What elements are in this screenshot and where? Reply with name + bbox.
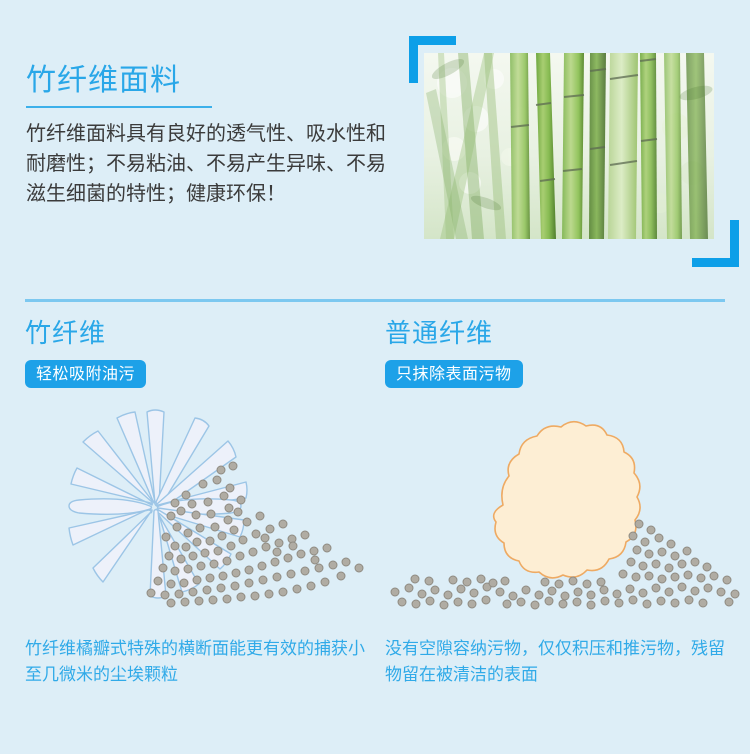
column-heading-bamboo: 竹纤维	[25, 318, 390, 350]
hero-section: 竹纤维面料 竹纤维面料具有良好的透气性、吸水性和耐磨性；不易粘油、不易产生异味、…	[0, 0, 750, 300]
figure-orange-segment-cross-section	[25, 396, 390, 624]
section-divider	[25, 299, 725, 302]
bamboo-forest-photo	[424, 53, 714, 239]
figure-solid-round-cross-section	[385, 396, 750, 624]
hero-text-block: 竹纤维面料 竹纤维面料具有良好的透气性、吸水性和耐磨性；不易粘油、不易产生异味、…	[26, 62, 401, 208]
badge-ordinary: 只抹除表面污物	[385, 360, 523, 388]
caption-bamboo: 竹纤维橘瓣式特殊的横断面能更有效的捕获小至几微米的尘埃颗粒	[25, 636, 375, 688]
caption-ordinary: 没有空隙容纳污物，仅仅积压和推污物，残留物留在被清洁的表面	[385, 636, 735, 688]
comparison-section: 竹纤维 轻松吸附油污	[0, 318, 750, 754]
hero-photo-frame	[424, 53, 714, 239]
page-title: 竹纤维面料	[26, 62, 401, 104]
column-ordinary-fiber: 普通纤维 只抹除表面污物	[385, 318, 750, 754]
badge-bamboo: 轻松吸附油污	[25, 360, 146, 388]
product-infographic-page: 竹纤维面料 竹纤维面料具有良好的透气性、吸水性和耐磨性；不易粘油、不易产生异味、…	[0, 0, 750, 754]
title-underline	[26, 106, 212, 108]
hero-description: 竹纤维面料具有良好的透气性、吸水性和耐磨性；不易粘油、不易产生异味、不易滋生细菌…	[26, 118, 401, 208]
column-bamboo-fiber: 竹纤维 轻松吸附油污	[25, 318, 390, 754]
column-heading-ordinary: 普通纤维	[385, 318, 750, 350]
